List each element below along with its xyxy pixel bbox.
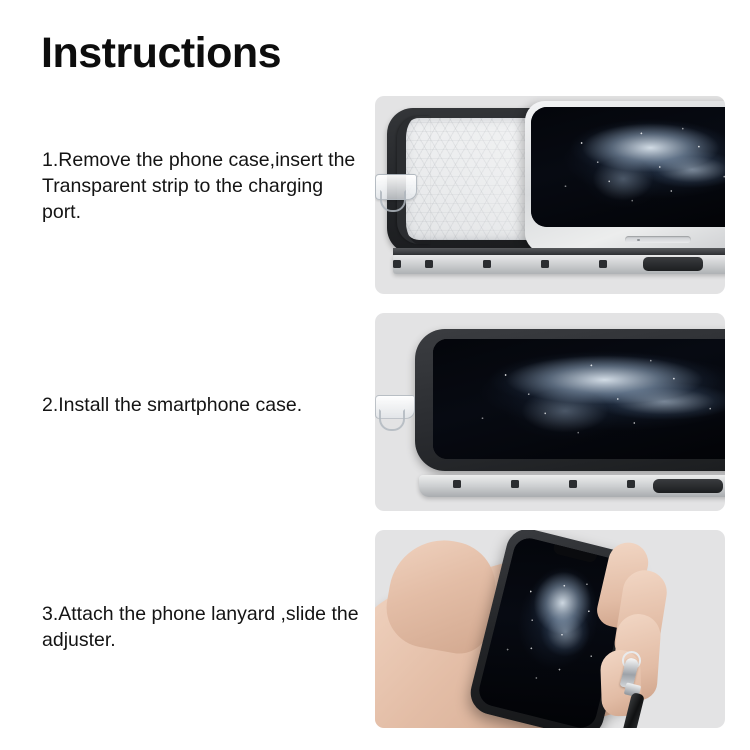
rail-vent-icon [511, 480, 519, 488]
rail-vent-icon [425, 260, 433, 268]
rail-vent-icon [627, 480, 635, 488]
rail-vent-icon [541, 260, 549, 268]
phone-case-with-transparent-strip-illustration [375, 96, 725, 294]
rail-vent-icon [483, 260, 491, 268]
step-2-image-panel [375, 313, 725, 511]
step-3-text: 3.Attach the phone lanyard ,slide the ad… [42, 601, 362, 653]
step-3-image-panel [375, 530, 725, 728]
case-bottom-rail [419, 475, 725, 497]
phone-screen [433, 339, 725, 459]
transparent-strip-loop-icon [379, 409, 405, 431]
microphone-dot-icon [637, 239, 640, 242]
wave-wallpaper [531, 107, 725, 227]
case-rail-shadow [393, 248, 725, 255]
phone-installed-in-case-illustration [375, 313, 725, 511]
case-side-button-icon [653, 479, 723, 493]
step-1-text: 1.Remove the phone case,insert the Trans… [42, 147, 362, 225]
rail-vent-icon [569, 480, 577, 488]
wave-wallpaper [433, 339, 725, 459]
step-2-text: 2.Install the smartphone case. [42, 392, 362, 418]
step-1-image-panel [375, 96, 725, 294]
phone-screen [531, 107, 725, 227]
smartphone-device [525, 101, 725, 253]
speaker-grille-icon [625, 236, 691, 243]
rail-vent-icon [393, 260, 401, 268]
hand-holding-phone-with-lanyard-illustration [375, 530, 725, 728]
rail-vent-icon [599, 260, 607, 268]
case-bottom-rail [393, 255, 725, 274]
transparent-strip-loop-icon [380, 190, 406, 212]
case-side-button-icon [643, 257, 703, 271]
page-title: Instructions [41, 29, 281, 78]
rail-vent-icon [453, 480, 461, 488]
